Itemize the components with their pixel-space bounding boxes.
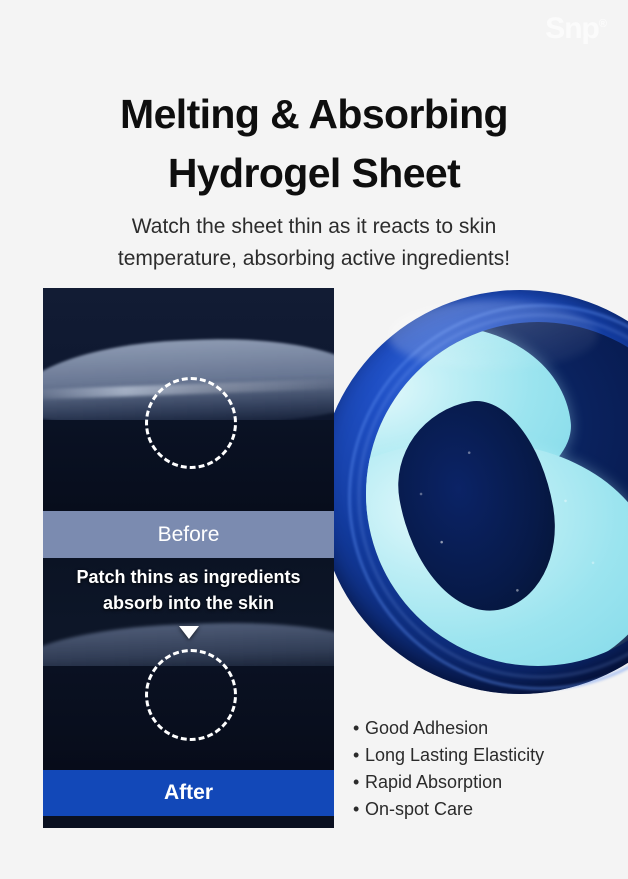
feature-label: Good Adhesion: [365, 718, 488, 738]
feature-label: Rapid Absorption: [365, 772, 502, 792]
before-label-band: Before: [43, 511, 334, 558]
page-title: Melting & Absorbing Hydrogel Sheet: [0, 85, 628, 201]
product-photo: [300, 288, 628, 700]
page-subtitle: Watch the sheet thin as it reacts to ski…: [0, 211, 628, 275]
bullet-icon: •: [353, 796, 365, 823]
subtitle-line-1: Watch the sheet thin as it reacts to ski…: [132, 215, 497, 238]
after-label-band: After: [43, 770, 334, 816]
list-item: •On-spot Care: [353, 796, 613, 823]
list-item: •Rapid Absorption: [353, 769, 613, 796]
after-label-text: After: [164, 781, 213, 805]
bullet-icon: •: [353, 715, 365, 742]
bullet-icon: •: [353, 742, 365, 769]
headline-line-2: Hydrogel Sheet: [0, 144, 628, 202]
bullet-icon: •: [353, 769, 365, 796]
brand-watermark-text: Snp: [545, 12, 599, 45]
highlight-circle-after: [145, 649, 237, 741]
headline-line-1: Melting & Absorbing: [120, 91, 508, 137]
brand-trademark-symbol: ®: [599, 18, 606, 30]
transition-caption-line-2: absorb into the skin: [43, 590, 334, 616]
subtitle-line-2: temperature, absorbing active ingredient…: [0, 243, 628, 275]
transition-caption: Patch thins as ingredients absorb into t…: [43, 564, 334, 616]
feature-label: Long Lasting Elasticity: [365, 745, 544, 765]
brand-watermark: Snp®: [545, 14, 606, 44]
before-after-comparison: Before Patch thins as ingredients absorb…: [43, 288, 334, 828]
list-item: •Long Lasting Elasticity: [353, 742, 613, 769]
highlight-circle-before: [145, 377, 237, 469]
list-item: •Good Adhesion: [353, 715, 613, 742]
feature-list: •Good Adhesion •Long Lasting Elasticity …: [353, 715, 613, 823]
jar-interior: [366, 322, 628, 666]
before-label-text: Before: [158, 523, 220, 547]
feature-label: On-spot Care: [365, 799, 473, 819]
transition-caption-line-1: Patch thins as ingredients: [76, 567, 300, 587]
down-triangle-icon: [179, 626, 199, 639]
jar-body: [318, 290, 628, 694]
